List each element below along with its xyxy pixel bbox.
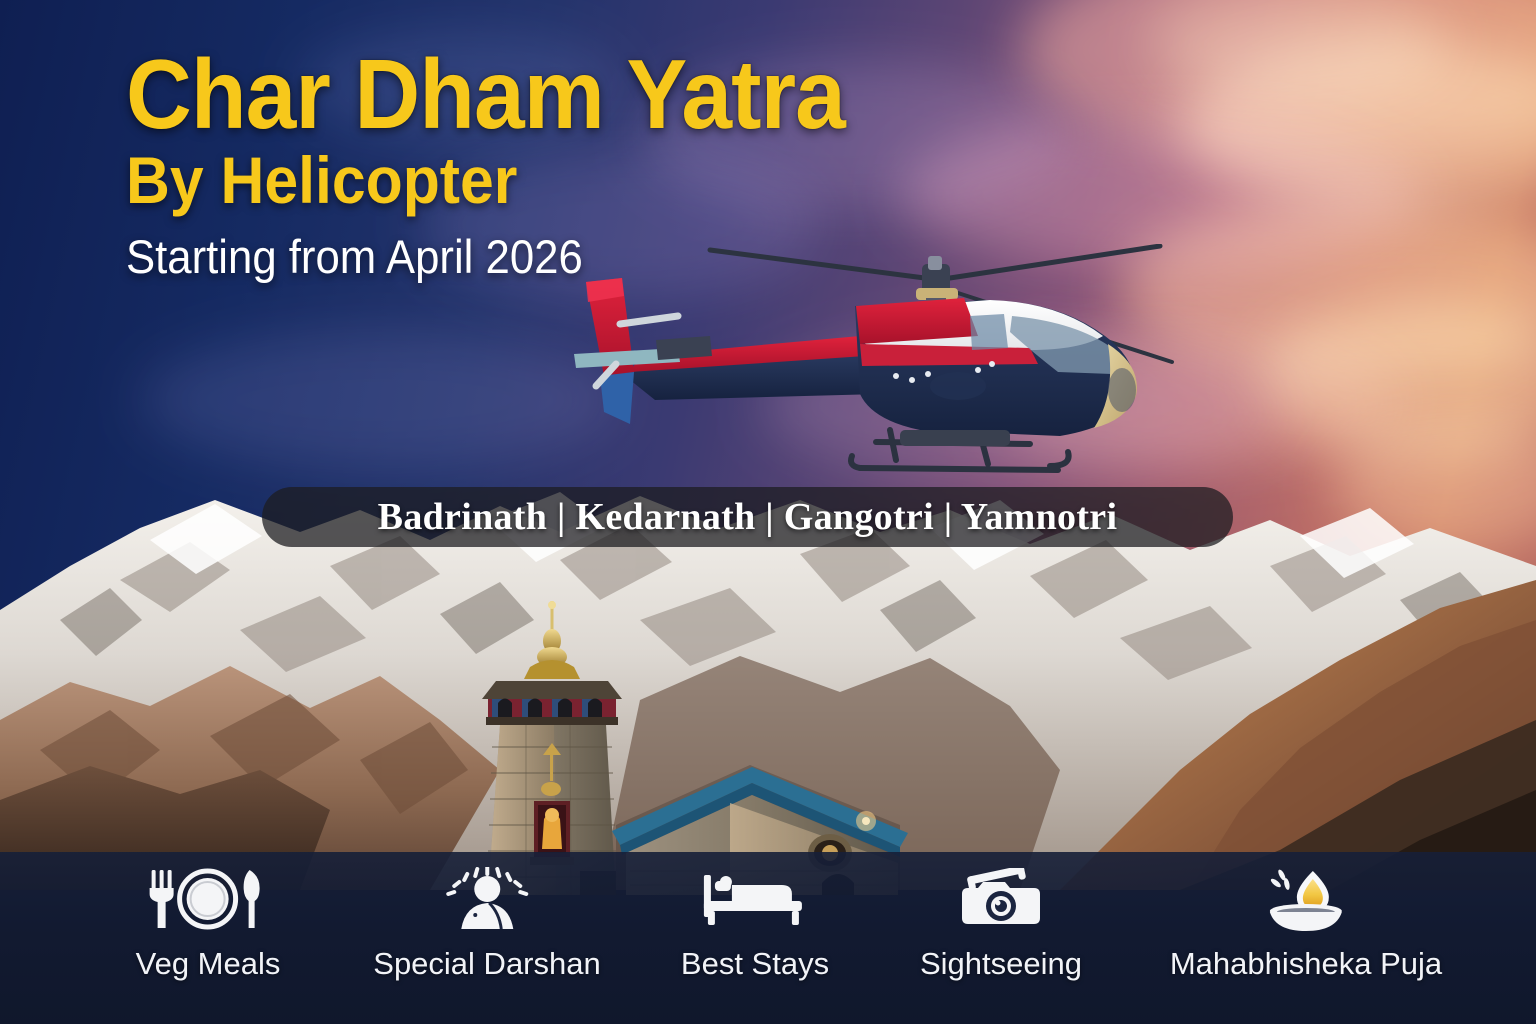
bed-icon [702,866,808,932]
diya-lamp-icon [1258,866,1354,932]
camera-icon [954,866,1048,932]
feature-label: Veg Meals [136,946,281,982]
feature-best-stays[interactable]: Best Stays [681,866,829,982]
feature-sightseeing[interactable]: Sightseeing [920,866,1082,982]
feature-label: Sightseeing [920,946,1082,982]
hero-date-line: Starting from April 2026 [126,231,845,283]
feature-mahabhisheka-puja[interactable]: Mahabhisheka Puja [1170,866,1442,982]
cutlery-plate-icon [144,866,272,932]
features-bar: Veg Meals [0,852,1536,1024]
meditating-figure-icon [439,866,535,932]
feature-label: Best Stays [681,946,829,982]
promotional-banner: Char Dham Yatra By Helicopter Starting f… [0,0,1536,1024]
destinations-label: Badrinath | Kedarnath | Gangotri | Yamno… [378,495,1118,539]
feature-label: Mahabhisheka Puja [1170,946,1442,982]
feature-special-darshan[interactable]: Special Darshan [373,866,600,982]
page-title: Char Dham Yatra [126,46,845,142]
kedarnath-temple [430,595,990,895]
feature-label: Special Darshan [373,946,600,982]
destinations-pill: Badrinath | Kedarnath | Gangotri | Yamno… [262,487,1233,547]
hero-subtitle: By Helicopter [126,146,837,215]
feature-veg-meals[interactable]: Veg Meals [136,866,281,982]
hero-text-block: Char Dham Yatra By Helicopter Starting f… [126,46,899,282]
